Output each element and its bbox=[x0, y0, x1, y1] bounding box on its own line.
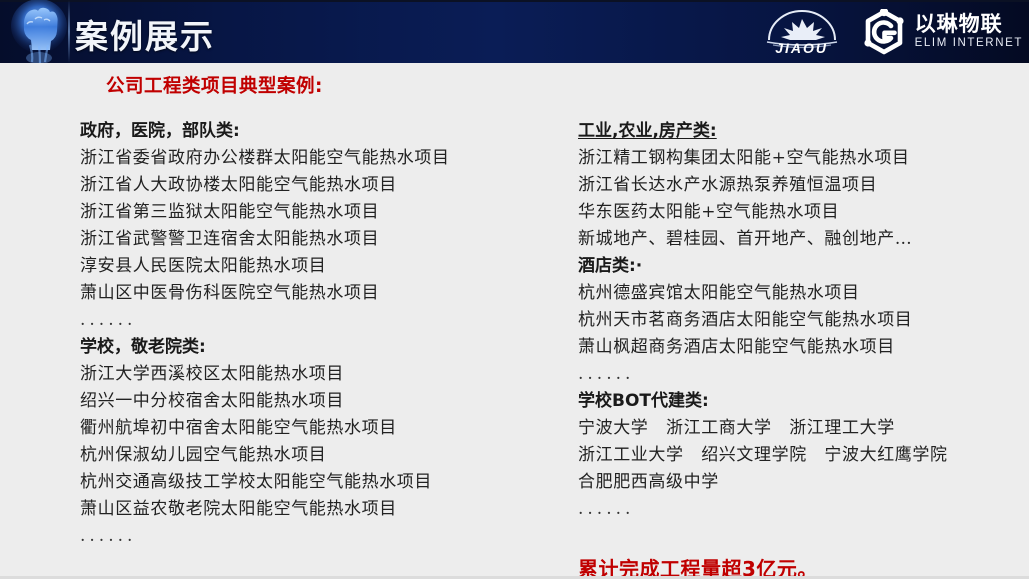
list-item: 浙江省第三监狱太阳能空气能热水项目 bbox=[80, 199, 560, 226]
hexagon-g-icon bbox=[861, 9, 907, 55]
list-item: 淳安县人民医院太阳能热水项目 bbox=[80, 253, 560, 280]
list-item: 浙江省委省政府办公楼群太阳能空气能热水项目 bbox=[80, 145, 560, 172]
list-item: 浙江省人大政协楼太阳能空气能热水项目 bbox=[80, 172, 560, 199]
list-item: 浙江工业大学 绍兴文理学院 宁波大红鹰学院 bbox=[578, 442, 1028, 469]
ellipsis: ...... bbox=[578, 361, 1028, 388]
right-column: 工业,农业,房产类: 浙江精工钢构集团太阳能+空气能热水项目 浙江省长达水产水源… bbox=[578, 118, 1028, 579]
slide-header: 案例展示 JIAOU bbox=[0, 0, 1029, 63]
list-item: 绍兴一中分校宿舍太阳能热水项目 bbox=[80, 388, 560, 415]
group-heading: 学校，敬老院类: bbox=[80, 334, 560, 361]
list-item: 华东医药太阳能+空气能热水项目 bbox=[578, 199, 1028, 226]
group-heading: 政府，医院，部队类: bbox=[80, 118, 560, 145]
jiaou-logo: JIAOU bbox=[759, 7, 845, 57]
list-item: 萧山区中医骨伤科医院空气能热水项目 bbox=[80, 280, 560, 307]
raised-fist-icon bbox=[8, 0, 70, 63]
slide-canvas: 案例展示 JIAOU bbox=[0, 0, 1029, 579]
list-item: 衢州航埠初中宿舍太阳能空气能热水项目 bbox=[80, 415, 560, 442]
list-item: 合肥肥西高级中学 bbox=[578, 469, 1028, 496]
section-title: 公司工程类项目典型案例: bbox=[106, 72, 323, 98]
left-column: 政府，医院，部队类: 浙江省委省政府办公楼群太阳能空气能热水项目 浙江省人大政协… bbox=[80, 118, 560, 550]
header-top-line bbox=[0, 0, 1029, 2]
page-title: 案例展示 bbox=[75, 10, 215, 58]
spacer bbox=[578, 523, 1028, 553]
group-schools-nursing: 学校，敬老院类: 浙江大学西溪校区太阳能热水项目 绍兴一中分校宿舍太阳能热水项目… bbox=[80, 334, 560, 550]
ellipsis: ...... bbox=[80, 307, 560, 334]
header-divider bbox=[68, 0, 70, 63]
elim-name-en: ELIM INTERNET bbox=[915, 38, 1023, 50]
group-industry-agri-realestate: 工业,农业,房产类: 浙江精工钢构集团太阳能+空气能热水项目 浙江省长达水产水源… bbox=[578, 118, 1028, 253]
list-item: 杭州保淑幼儿园空气能热水项目 bbox=[80, 442, 560, 469]
list-item: 杭州天市茗商务酒店太阳能空气能热水项目 bbox=[578, 307, 1028, 334]
list-item: 浙江省长达水产水源热泵养殖恒温项目 bbox=[578, 172, 1028, 199]
list-item: 杭州德盛宾馆太阳能空气能热水项目 bbox=[578, 280, 1028, 307]
jiaou-wordmark: JIAOU bbox=[759, 40, 845, 56]
group-heading: 工业,农业,房产类: bbox=[578, 118, 1028, 145]
list-item: 浙江大学西溪校区太阳能热水项目 bbox=[80, 361, 560, 388]
group-heading: 酒店类:· bbox=[578, 253, 1028, 280]
list-item: 杭州交通高级技工学校太阳能空气能热水项目 bbox=[80, 469, 560, 496]
list-item: 浙江省武警警卫连宿舍太阳能热水项目 bbox=[80, 226, 560, 253]
ellipsis: ...... bbox=[578, 496, 1028, 523]
group-hotels: 酒店类:· 杭州德盛宾馆太阳能空气能热水项目 杭州天市茗商务酒店太阳能空气能热水… bbox=[578, 253, 1028, 388]
group-heading: 学校BOT代建类: bbox=[578, 388, 1028, 415]
group-school-bot: 学校BOT代建类: 宁波大学 浙江工商大学 浙江理工大学 浙江工业大学 绍兴文理… bbox=[578, 388, 1028, 523]
slide-body: 公司工程类项目典型案例: 政府，医院，部队类: 浙江省委省政府办公楼群太阳能空气… bbox=[0, 63, 1029, 576]
elim-wordmark: 以琳物联 ELIM INTERNET bbox=[915, 14, 1023, 50]
list-item: 萧山区益农敬老院太阳能空气能热水项目 bbox=[80, 496, 560, 523]
list-item: 宁波大学 浙江工商大学 浙江理工大学 bbox=[578, 415, 1028, 442]
ellipsis: ...... bbox=[80, 523, 560, 550]
elim-logo: 以琳物联 ELIM INTERNET bbox=[861, 7, 1023, 57]
logo-group: JIAOU 以琳物联 ELIM INTERNET bbox=[759, 4, 1023, 59]
list-item: 浙江精工钢构集团太阳能+空气能热水项目 bbox=[578, 145, 1028, 172]
summary-statement: 累计完成工程量超3亿元。 bbox=[578, 553, 1028, 579]
group-government: 政府，医院，部队类: 浙江省委省政府办公楼群太阳能空气能热水项目 浙江省人大政协… bbox=[80, 118, 560, 334]
list-item: 新城地产、碧桂园、首开地产、融创地产… bbox=[578, 226, 1028, 253]
list-item: 萧山枫超商务酒店太阳能空气能热水项目 bbox=[578, 334, 1028, 361]
elim-name-cn: 以琳物联 bbox=[915, 14, 1023, 35]
